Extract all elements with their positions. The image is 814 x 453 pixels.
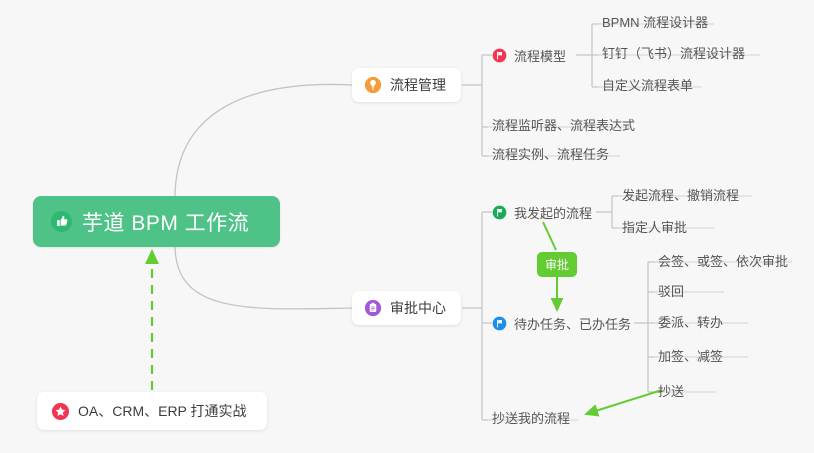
leaf-node-process-instance[interactable]: 流程实例、流程任务 <box>492 145 609 165</box>
leaf-node-process-listener[interactable]: 流程监听器、流程表达式 <box>492 116 635 136</box>
leaf-node-bpmn-designer[interactable]: BPMN 流程设计器 <box>602 13 708 33</box>
root-label: 芋道 BPM 工作流 <box>82 207 249 237</box>
branch-label: 流程管理 <box>390 75 446 95</box>
sub-node-label: 流程模型 <box>514 46 566 65</box>
note-card-integration[interactable]: OA、CRM、ERP 打通实战 <box>37 392 267 430</box>
mindmap-canvas: 芋道 BPM 工作流 流程管理 流程模型 BPMN 流程设计器 钉钉（飞书）流程… <box>0 0 814 453</box>
sub-node-label: 待办任务、已办任务 <box>514 314 631 333</box>
branch-node-process-management[interactable]: 流程管理 <box>352 68 461 102</box>
flag-icon-green <box>492 205 507 220</box>
sub-node-label: 我发起的流程 <box>514 203 592 222</box>
flag-icon-red <box>492 48 507 63</box>
leaf-node-assignee-approval[interactable]: 指定人审批 <box>622 218 687 238</box>
leaf-node-add-remove-sign[interactable]: 加签、减签 <box>658 347 723 367</box>
note-card-label: OA、CRM、ERP 打通实战 <box>78 401 247 421</box>
sub-node-my-initiated-process[interactable]: 我发起的流程 <box>492 201 592 223</box>
leaf-node-custom-form[interactable]: 自定义流程表单 <box>602 76 693 96</box>
thumbs-up-icon <box>50 210 73 233</box>
leaf-node-delegate-transfer[interactable]: 委派、转办 <box>658 313 723 333</box>
flag-icon-blue <box>492 316 507 331</box>
root-node[interactable]: 芋道 BPM 工作流 <box>33 196 280 247</box>
leaf-node-cc-to-me[interactable]: 抄送我的流程 <box>492 409 570 429</box>
leaf-node-reject[interactable]: 驳回 <box>658 282 684 302</box>
sub-node-process-model[interactable]: 流程模型 <box>492 44 566 66</box>
branch-node-approval-center[interactable]: 审批中心 <box>352 291 461 325</box>
leaf-node-dingtalk-designer[interactable]: 钉钉（飞书）流程设计器 <box>602 44 745 64</box>
cc-flow-arrow <box>586 390 662 414</box>
lightbulb-icon <box>364 76 382 94</box>
approval-flow-tag: 审批 <box>537 252 577 277</box>
leaf-node-countersign[interactable]: 会签、或签、依次审批 <box>658 252 788 272</box>
clipboard-icon <box>364 299 382 317</box>
leaf-node-cc[interactable]: 抄送 <box>658 382 684 402</box>
leaf-node-start-cancel-process[interactable]: 发起流程、撤销流程 <box>622 186 739 206</box>
sub-node-todo-done-tasks[interactable]: 待办任务、已办任务 <box>492 312 631 334</box>
star-icon <box>51 402 70 421</box>
branch-label: 审批中心 <box>390 298 446 318</box>
